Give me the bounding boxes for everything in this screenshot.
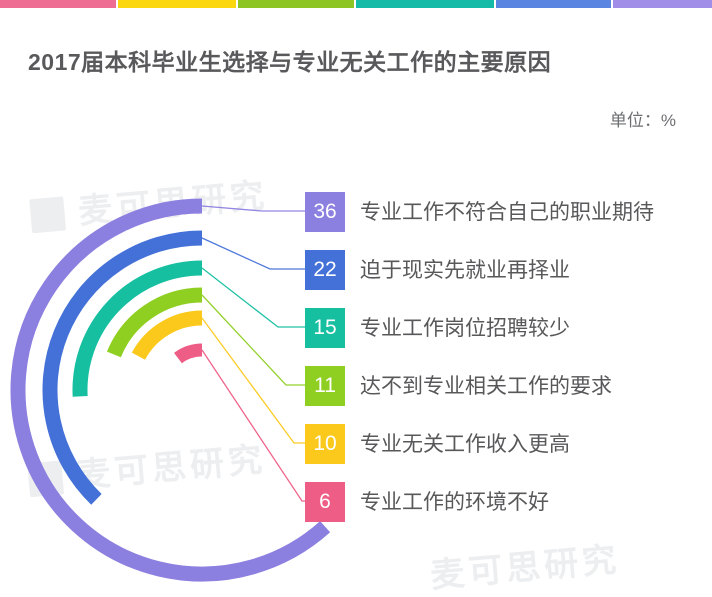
value-badge: 10 bbox=[305, 424, 345, 464]
leader-line bbox=[202, 238, 305, 269]
leader-line bbox=[202, 268, 305, 327]
leader-line bbox=[202, 318, 305, 443]
arc-segment bbox=[178, 350, 202, 358]
category-label: 专业工作岗位招聘较少 bbox=[360, 312, 570, 342]
value-badge: 36 bbox=[305, 192, 345, 232]
category-label: 专业无关工作收入更高 bbox=[360, 428, 570, 458]
value-badge: 22 bbox=[305, 250, 345, 290]
leader-line bbox=[202, 350, 305, 501]
arc-segment bbox=[18, 206, 325, 574]
value-badge: 6 bbox=[305, 482, 345, 522]
category-label: 专业工作的环境不好 bbox=[360, 486, 549, 516]
chart-canvas: 麦可思研究 麦可思研究 麦可思研究 2017届本科毕业生选择与专业无关工作的主要… bbox=[0, 0, 712, 585]
value-badge: 11 bbox=[305, 366, 345, 406]
category-label: 达不到专业相关工作的要求 bbox=[360, 370, 612, 400]
leader-line bbox=[202, 206, 305, 211]
category-label: 专业工作不符合自己的职业期待 bbox=[360, 196, 654, 226]
value-badge: 15 bbox=[305, 308, 345, 348]
radial-bar-chart bbox=[0, 0, 712, 585]
category-label: 迫于现实先就业再择业 bbox=[360, 254, 570, 284]
